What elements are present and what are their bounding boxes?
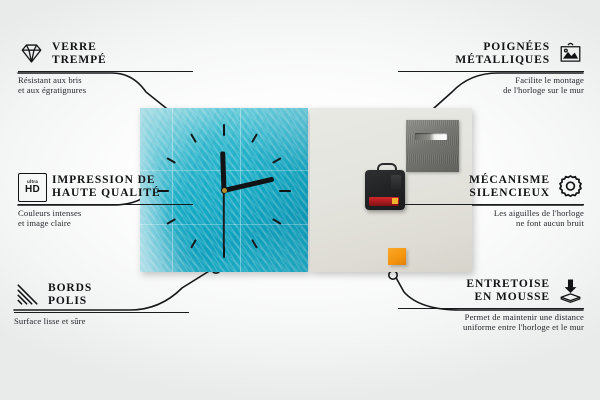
hanger-slot [415, 133, 447, 140]
feature-desc-line1: Facilite le montage [515, 75, 584, 85]
feature-title-line2: POLIS [48, 295, 87, 307]
feature-rule [18, 204, 193, 205]
feature-rule [398, 71, 584, 72]
polished-edge-icon [14, 281, 41, 308]
feature-title-line1: ENTRETOISE [466, 278, 550, 290]
feature-title-line1: POIGNÉES [483, 41, 550, 53]
feature-title-line2: HAUTE QUALITÉ [52, 187, 161, 199]
feature-desc-line2: uniforme entre l'horloge et le mur [463, 322, 584, 332]
panel-seam [240, 108, 241, 272]
feature-desc-line1: Surface lisse et sûre [14, 316, 86, 326]
diamond-icon [18, 40, 45, 67]
connector-dot-entretoise [389, 271, 397, 279]
feature-rule [398, 204, 584, 205]
feature-poignees-metalliques: POIGNÉES MÉTALLIQUES Facilite le montage… [398, 40, 584, 96]
feature-entretoise-en-mousse: ENTRETOISE EN MOUSSE Permet de maintenir… [398, 277, 584, 333]
feature-rule [18, 71, 193, 72]
infographic-stage: VERRE TREMPÉ Résistant aux bris et aux é… [0, 0, 600, 400]
feature-impression-haute-qualite: ultra HD IMPRESSION DE HAUTE QUALITÉ Cou… [18, 173, 193, 229]
feature-title-line2: EN MOUSSE [474, 291, 550, 303]
feature-title-line1: IMPRESSION DE [52, 174, 155, 186]
wall-frame-icon [557, 40, 584, 67]
feature-title-line2: TREMPÉ [52, 54, 107, 66]
feature-rule [398, 308, 584, 309]
gear-icon [557, 173, 584, 200]
feature-mecanisme-silencieux: MÉCANISME SILENCIEUX Les aiguilles de l'… [398, 173, 584, 229]
feature-title-line1: MÉCANISME [469, 174, 550, 186]
feature-title-line2: MÉTALLIQUES [455, 54, 550, 66]
feature-desc-line1: Couleurs intenses [18, 208, 81, 218]
ultra-hd-icon: ultra HD [18, 173, 45, 200]
foam-spacer-icon [557, 277, 584, 304]
ultra-hd-icon-main-label: HD [25, 185, 40, 195]
feature-title-line1: VERRE [52, 41, 97, 53]
feature-desc-line2: et image claire [18, 218, 71, 228]
feature-desc-line2: et aux égratignures [18, 85, 86, 95]
clock-tick [279, 190, 291, 192]
feature-title-line2: SILENCIEUX [469, 187, 550, 199]
feature-desc-line1: Permet de maintenir une distance [465, 312, 584, 322]
feature-bords-polis: BORDS POLIS Surface lisse et sûre [14, 281, 189, 326]
feature-desc-line1: Résistant aux bris [18, 75, 82, 85]
feature-desc-line2: de l'horloge sur le mur [503, 85, 584, 95]
feature-desc-line1: Les aiguilles de l'horloge [494, 208, 584, 218]
foam-spacer [388, 248, 406, 265]
metal-hanger-plate [406, 120, 459, 172]
feature-rule [14, 312, 189, 313]
feature-title-line1: BORDS [48, 282, 92, 294]
clock-second-hand [223, 187, 225, 249]
feature-desc-line2: ne font aucun bruit [516, 218, 584, 228]
feature-verre-trempe: VERRE TREMPÉ Résistant aux bris et aux é… [18, 40, 193, 96]
clock-tick [223, 124, 225, 136]
battery [369, 197, 399, 206]
clock-center-pivot [222, 188, 227, 193]
